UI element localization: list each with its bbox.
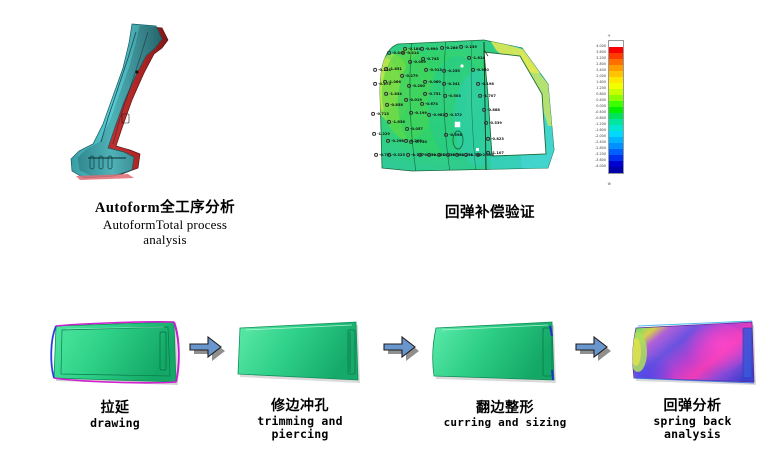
- legend-tick-label: -3.600: [595, 158, 606, 162]
- legend-tick-label: 0.400: [596, 98, 606, 102]
- fea-contour-svg: [372, 22, 572, 187]
- panel-springback-svg: [628, 312, 768, 390]
- panel-drawing-svg: [44, 312, 184, 390]
- panel-springback-flange: [743, 328, 752, 378]
- fea-hole-lower: [476, 148, 479, 151]
- legend-tick-label: -2.000: [595, 134, 606, 138]
- caption-autoform-cn: Autoform全工序分析: [50, 200, 280, 217]
- legend-color-bar: [608, 40, 624, 174]
- process-panel-trimming: [232, 312, 372, 390]
- caption-autoform-en-1: AutoformTotal process: [50, 217, 280, 232]
- process-panel-curring: [428, 312, 568, 390]
- legend-tick-label: 0.000: [596, 104, 606, 108]
- caption-drawing: 拉延 drawing: [40, 400, 190, 430]
- legend-tick-label: 4.000: [596, 44, 606, 48]
- caption-trimming-cn: 修边冲孔: [215, 398, 385, 415]
- apillar-hole-round: [135, 70, 138, 73]
- apillar-model-graphic: [58, 18, 198, 198]
- arrow-3-svg: [574, 334, 612, 364]
- panel-trimming-svg: [232, 312, 372, 390]
- fea-window-aperture: [484, 52, 546, 156]
- caption-springback: 回弹分析 spring back analysis: [615, 398, 770, 442]
- caption-trimming-en-1: trimming and: [215, 415, 385, 429]
- process-panel-springback: [628, 312, 768, 390]
- legend-tick-label: -1.200: [595, 122, 606, 126]
- panel-trimming-body: [238, 322, 358, 380]
- legend-tick-label: 3.600: [596, 50, 606, 54]
- process-arrow-2: [382, 334, 420, 364]
- caption-drawing-cn: 拉延: [40, 400, 190, 417]
- caption-drawing-en-1: drawing: [40, 417, 190, 431]
- legend-top-marker: +: [607, 33, 610, 38]
- process-arrow-3: [574, 334, 612, 364]
- legend-tick-label: -2.800: [595, 146, 606, 150]
- caption-autoform-en-2: analysis: [50, 232, 280, 247]
- legend-tick-label: -0.800: [595, 116, 606, 120]
- caption-curring: 翻边整形 curring and sizing: [415, 400, 595, 429]
- process-panel-drawing: [44, 312, 184, 390]
- legend-bottom-marker: ⊕: [607, 181, 610, 186]
- fea-contour-graphic: -0.234-0.273-0.713-1.229-0.761-1.851-1.0…: [372, 22, 572, 187]
- legend-tick-label: 2.000: [596, 74, 606, 78]
- legend-tick-labels: 4.0003.6003.2002.8002.4002.0001.6001.200…: [586, 40, 607, 172]
- caption-trimming-en-2: piercing: [215, 428, 385, 442]
- apillar-nominal-shape: [71, 24, 162, 178]
- legend-tick-label: -3.200: [595, 152, 606, 156]
- fea-hole-upper: [455, 122, 460, 127]
- legend-tick-label: 2.800: [596, 62, 606, 66]
- caption-trimming: 修边冲孔 trimming and piercing: [215, 398, 385, 442]
- arrow-1-svg: [188, 334, 226, 364]
- panel-drawing-body: [54, 322, 176, 382]
- legend-tick-label: 0.800: [596, 92, 606, 96]
- caption-springback-verify: 回弹补偿验证: [390, 205, 590, 222]
- process-arrow-1: [188, 334, 226, 364]
- legend-tick-label: 1.200: [596, 86, 606, 90]
- caption-curring-en-1: curring and sizing: [415, 417, 595, 430]
- legend-swatch: [609, 167, 623, 173]
- legend-tick-label: -0.400: [595, 110, 606, 114]
- panel-curring-svg: [428, 312, 568, 390]
- legend-tick-label: -4.000: [595, 164, 606, 168]
- caption-springback-verify-cn: 回弹补偿验证: [390, 205, 590, 222]
- legend-tick-label: 2.400: [596, 68, 606, 72]
- panel-curring-body: [433, 322, 554, 380]
- fea-hole-top: [460, 64, 463, 67]
- panel-curring-edge-blue-bottom: [552, 370, 553, 380]
- color-legend: + 4.0003.6003.2002.8002.4002.0001.6001.2…: [586, 34, 632, 180]
- caption-autoform: Autoform全工序分析 AutoformTotal process anal…: [50, 200, 280, 248]
- caption-springback-cn: 回弹分析: [615, 398, 770, 415]
- legend-tick-label: -2.400: [595, 140, 606, 144]
- apillar-svg: [58, 18, 198, 198]
- caption-curring-cn: 翻边整形: [415, 400, 595, 417]
- arrow-2-svg: [382, 334, 420, 364]
- legend-tick-label: -1.600: [595, 128, 606, 132]
- caption-springback-en-2: analysis: [615, 428, 770, 442]
- legend-tick-label: 3.200: [596, 56, 606, 60]
- slide-canvas: Autoform全工序分析 AutoformTotal process anal…: [0, 0, 771, 471]
- legend-tick-label: 1.600: [596, 80, 606, 84]
- caption-springback-en-1: spring back: [615, 415, 770, 429]
